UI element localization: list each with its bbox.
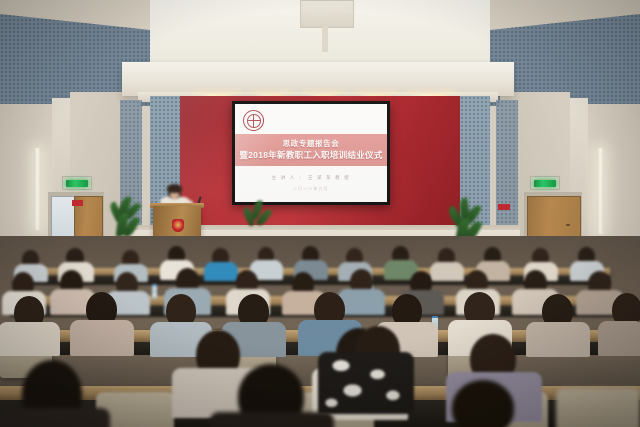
attendee-torso <box>204 262 238 281</box>
wall-slot-light-left <box>34 148 41 230</box>
exit-sign-left <box>62 176 92 190</box>
attendee-torso <box>338 289 385 315</box>
slide-content: 思政专题报告会 暨2018年新教职工入职培训结业仪式 主 讲 人 ： 王 某 某… <box>235 104 387 202</box>
lecture-hall-photo: 思政专题报告会 暨2018年新教职工入职培训结业仪式 主 讲 人 ： 王 某 某… <box>0 0 640 427</box>
water-bottle[interactable] <box>152 284 157 299</box>
attendee-torso <box>0 408 110 427</box>
right-wall-return <box>588 104 640 254</box>
attendee-torso <box>70 320 134 356</box>
left-wall-return <box>0 104 52 254</box>
attendee-torso <box>430 262 464 281</box>
exit-sign-lamp <box>534 180 556 187</box>
projector-stem <box>322 26 328 52</box>
projector-mount <box>300 0 354 28</box>
exit-sign-right <box>530 176 560 190</box>
stage-soffit <box>122 62 514 96</box>
university-seal-emblem <box>243 110 264 131</box>
attendee-torso <box>210 412 334 427</box>
slide-footer: 主 讲 人 ： 王 某 某 教 授 二〇一八年九月 <box>235 166 387 202</box>
wall-sign-left <box>72 200 83 206</box>
slide-subtitle-line1: 主 讲 人 ： 王 某 某 教 授 <box>235 174 387 182</box>
slide-title-band: 思政专题报告会 暨2018年新教职工入职培训结业仪式 <box>235 134 387 166</box>
projection-screen: 思政专题报告会 暨2018年新教职工入职培训结业仪式 主 讲 人 ： 王 某 某… <box>232 101 390 205</box>
attendee-head <box>452 380 514 427</box>
podium-crest-emblem <box>172 219 184 232</box>
bottle-label <box>152 293 157 297</box>
presenter-hair <box>167 184 182 193</box>
exit-sign-lamp <box>66 180 88 187</box>
wall-sign-right <box>498 204 510 210</box>
wall-slot-light-right <box>597 148 604 234</box>
slide-title-line2: 暨2018年新教职工入职培训结业仪式 <box>235 149 387 161</box>
attendee-torso <box>0 322 60 356</box>
slide-subtitle-line2: 二〇一八年九月 <box>235 185 387 193</box>
attendee-torso <box>598 321 640 356</box>
audience-chair[interactable] <box>556 388 640 427</box>
eyeglasses <box>30 386 76 393</box>
attendee-torso <box>526 322 590 357</box>
seal-cross-bar <box>253 114 254 127</box>
slide-header <box>235 104 387 134</box>
door-handle-right[interactable] <box>566 224 570 226</box>
acoustic-column-far-right <box>496 100 518 230</box>
attendee-torso-patterned <box>318 352 414 414</box>
slide-title-line1: 思政专题报告会 <box>235 138 387 149</box>
